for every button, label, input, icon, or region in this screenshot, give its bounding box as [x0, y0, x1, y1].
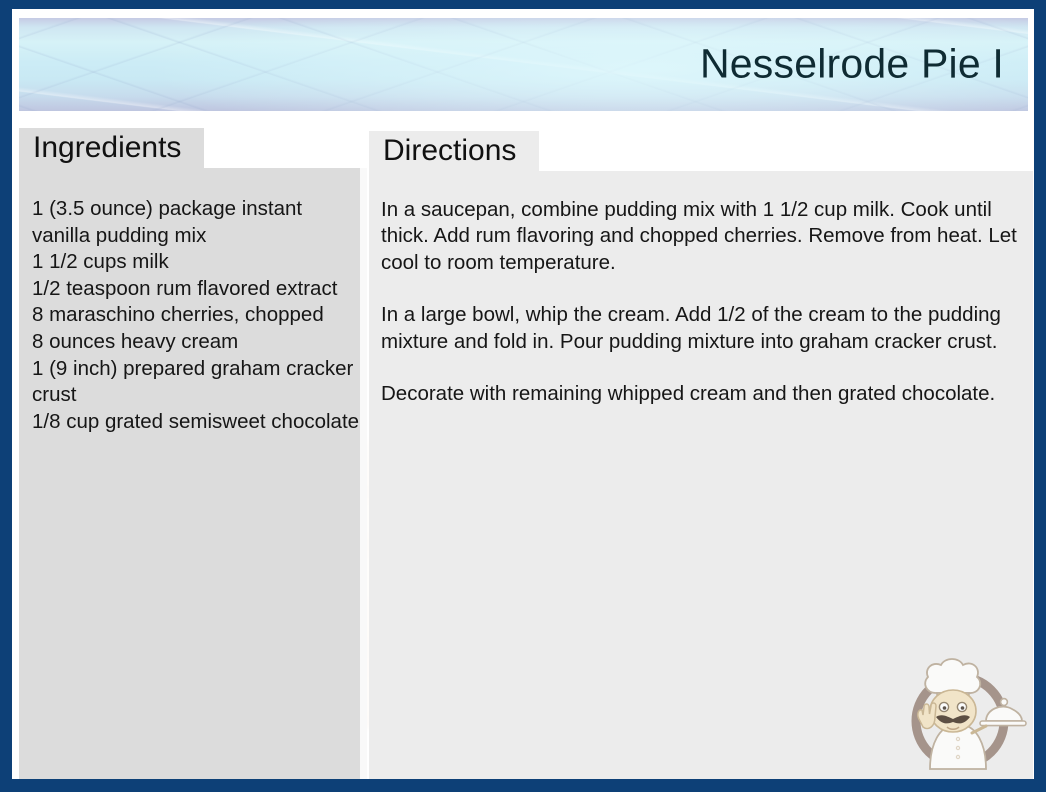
recipe-page: Nesselrode Pie I — [12, 9, 1034, 779]
chef-face — [930, 690, 976, 732]
ingredients-heading: Ingredients — [19, 128, 204, 168]
direction-step-1: In a saucepan, combine pudding mix with … — [381, 197, 1023, 276]
directions-heading: Directions — [369, 131, 539, 171]
title-banner: Nesselrode Pie I — [19, 18, 1028, 111]
ingredients-list: 1 (3.5 ounce) package instant vanilla pu… — [32, 196, 361, 435]
ingredients-panel: Ingredients 1 (3.5 ounce) package instan… — [19, 128, 367, 779]
direction-step-3: Decorate with remaining whipped cream an… — [381, 381, 1023, 407]
direction-step-2: In a large bowl, whip the cream. Add 1/2… — [381, 302, 1023, 355]
recipe-card: Nesselrode Pie I — [0, 0, 1046, 792]
chef-mascot-logo — [900, 647, 1028, 775]
recipe-title: Nesselrode Pie I — [700, 40, 1004, 87]
ingredients-body: 1 (3.5 ounce) package instant vanilla pu… — [19, 168, 367, 779]
